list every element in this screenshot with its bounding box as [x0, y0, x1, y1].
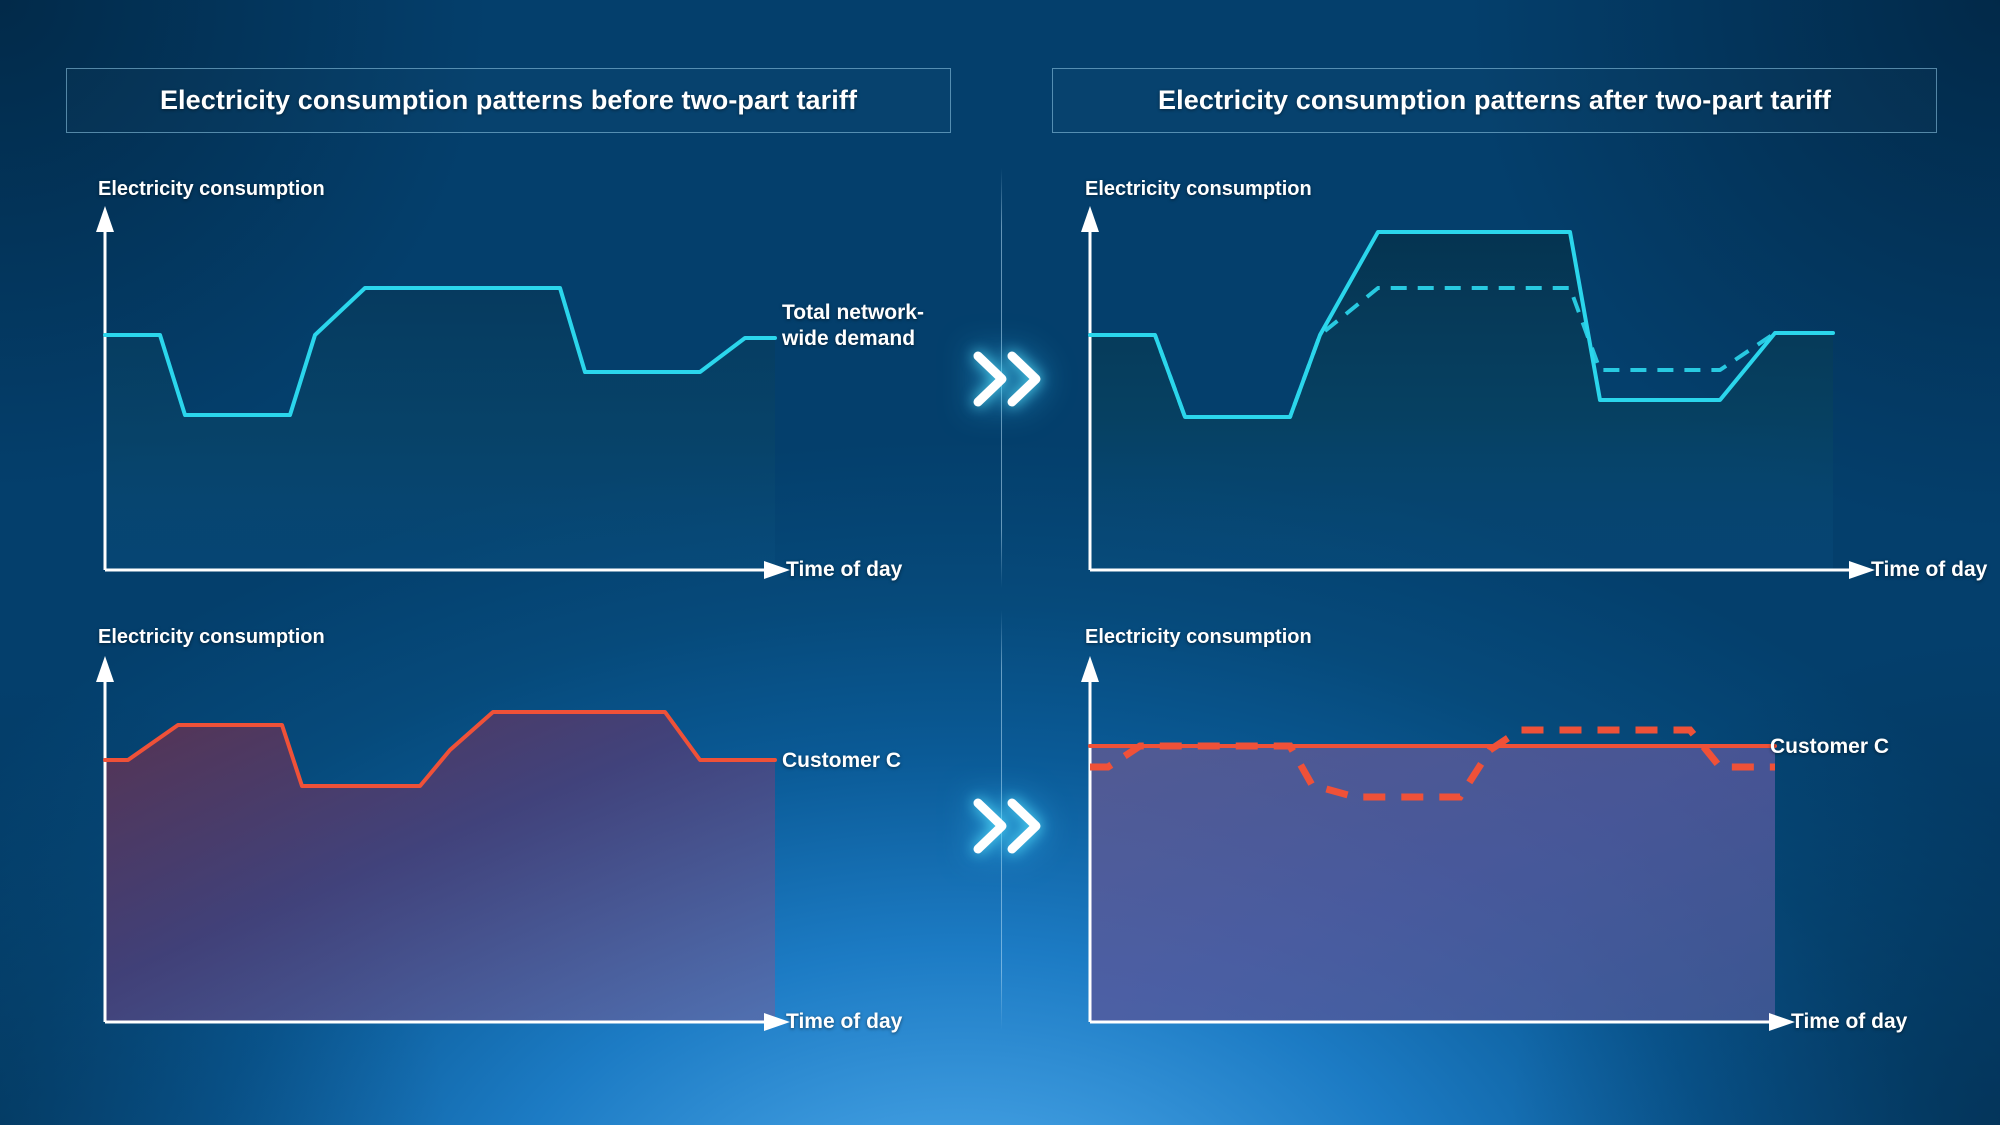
x-axis-label-top-left: Time of day [786, 558, 902, 582]
chart-bottom-right: Electricity consumption Time of day Cust… [1000, 600, 2000, 1125]
y-axis-arrow-top-right [1081, 206, 1099, 232]
series-label-line1: Total network- [782, 300, 924, 326]
series-label-network-demand: Total network- wide demand [782, 300, 924, 351]
y-axis-arrow-top-left [96, 206, 114, 232]
area-fill-network-before [105, 288, 775, 570]
chevron-right-icon-3 [978, 803, 1002, 849]
chevron-right-icon-1 [978, 356, 1002, 402]
slide-canvas: Electricity consumption patterns before … [0, 0, 2000, 1125]
series-label-customer-c-left: Customer C [782, 748, 901, 774]
series-label-line2: wide demand [782, 326, 924, 352]
chart-top-right: Electricity consumption Time of day [1000, 0, 2000, 600]
area-fill-customer-before [105, 712, 775, 1022]
y-axis-arrow-bottom-left [96, 656, 114, 682]
chart-top-left: Electricity consumption Time of day Tota… [0, 0, 1000, 600]
area-fill-customer-after [1090, 746, 1775, 1022]
x-axis-label-bottom-left: Time of day [786, 1010, 902, 1034]
chart-bottom-left: Electricity consumption Time of day Cust… [0, 600, 1000, 1125]
x-axis-label-top-right: Time of day [1871, 558, 1987, 582]
x-axis-label-bottom-right: Time of day [1791, 1010, 1907, 1034]
y-axis-arrow-bottom-right [1081, 656, 1099, 682]
series-label-customer-c-right: Customer C [1770, 734, 1889, 760]
